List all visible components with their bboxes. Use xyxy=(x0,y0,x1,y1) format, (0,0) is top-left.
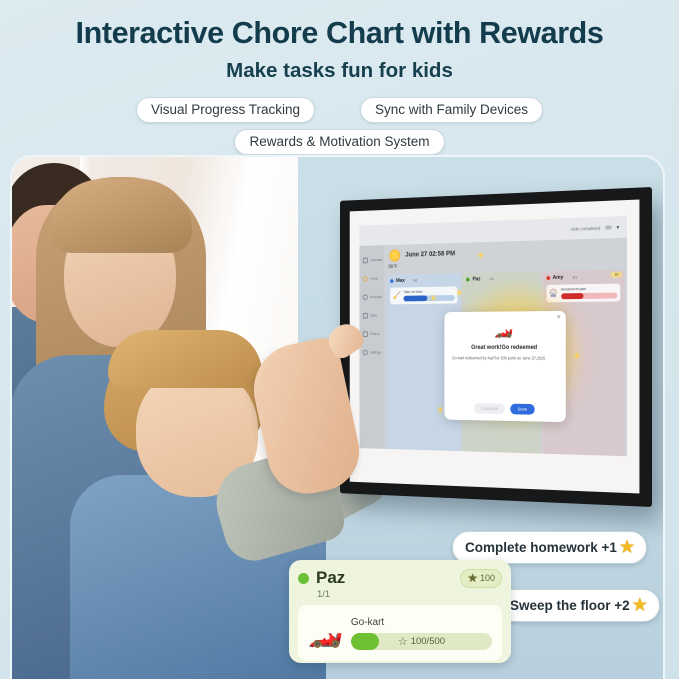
column-name-max: Max xyxy=(396,278,405,284)
feature-pill-sync-devices[interactable]: Sync with Family Devices xyxy=(360,97,543,123)
feature-pill-row-top: Visual Progress Tracking Sync with Famil… xyxy=(0,97,679,123)
feature-pill-visual-progress[interactable]: Visual Progress Tracking xyxy=(136,97,315,123)
star-outline-icon: ☆ xyxy=(398,635,408,648)
header: Interactive Chore Chart with Rewards Mak… xyxy=(0,0,679,172)
star-icon: ★ xyxy=(467,571,478,585)
column-header-max: Max 0/2 xyxy=(390,277,458,284)
sidebar-item-goals[interactable]: Goals xyxy=(360,269,385,288)
gokart-emoji: 🏎️ xyxy=(308,619,343,647)
tablet-screen-body: Calendar Goals Rewards Stats xyxy=(360,238,627,456)
sidebar-label-goals: Goals xyxy=(370,277,378,281)
callout-label-sweep: Sweep the floor +2 xyxy=(510,598,630,613)
task-emoji-trash: 🧹 xyxy=(393,292,401,300)
tablet-temperature: 86°F xyxy=(388,264,397,270)
sparkle-icon: ✦ xyxy=(477,251,484,262)
trophy-icon xyxy=(363,294,368,300)
boy-fringe xyxy=(108,330,262,388)
sidebar-label-calendar: Calendar xyxy=(370,258,382,262)
close-icon[interactable]: ✕ xyxy=(556,313,561,320)
paz-points-badge: ★ 100 xyxy=(460,569,502,588)
done-button[interactable]: Done xyxy=(511,404,535,415)
feature-pill-row-bottom: Rewards & Motivation System xyxy=(0,129,679,155)
paz-status-dot xyxy=(298,573,309,584)
task-card-max[interactable]: 🧹 Take out trash xyxy=(390,286,458,304)
sidebar-label-stats: Stats xyxy=(370,314,377,318)
sidebar-item-calendar[interactable]: Calendar xyxy=(360,251,385,270)
sidebar-label-photos: Photos xyxy=(370,332,379,336)
paz-task-body: Go-kart ☆ 100/500 xyxy=(351,617,492,650)
status-dot-max xyxy=(390,279,393,283)
people-icon xyxy=(363,331,368,337)
modal-title: Great work!Go redeemed xyxy=(452,344,557,351)
paz-task-fraction: 1/1 xyxy=(317,589,502,600)
sidebar-label-settings: Settings xyxy=(370,351,381,355)
gokart-progress-text: 100/500 xyxy=(411,636,445,647)
tablet-main-area: June 27 02:58 PM 86°F Max 0/2 xyxy=(384,238,627,456)
star-icon: ★ xyxy=(633,595,647,615)
paz-reward-card[interactable]: Paz ★ 100 1/1 🏎️ Go-kart ☆ 100/500 xyxy=(289,560,511,663)
gokart-progress-bar: ☆ 100/500 xyxy=(351,633,492,650)
paz-points-value: 100 xyxy=(480,573,495,583)
calendar-icon xyxy=(363,258,368,264)
gokart-progress-text-wrap: ☆ 100/500 xyxy=(398,635,445,648)
reward-redeemed-modal[interactable]: ✕ 🏎️ Great work!Go redeemed Go-kart rede… xyxy=(444,310,565,422)
modal-description: Go-kart redeemed by Karl for 500 point o… xyxy=(452,355,557,361)
sidebar-item-rewards[interactable]: Rewards xyxy=(360,288,385,307)
gokart-progress-fill xyxy=(351,633,379,650)
paz-card-header: Paz ★ 100 xyxy=(298,568,502,588)
sparkle-icon: ✦ xyxy=(456,289,463,300)
hide-completed-toggle[interactable]: Hide completed xyxy=(570,225,600,231)
chart-icon xyxy=(363,313,368,319)
callout-sweep-floor[interactable]: Sweep the floor +2 ★ xyxy=(497,589,660,622)
mother-hair-front xyxy=(50,179,192,253)
cancel-button[interactable]: Cancelled xyxy=(474,403,505,414)
gokart-label: Go-kart xyxy=(351,617,492,628)
gear-icon xyxy=(363,350,368,356)
sidebar-item-settings[interactable]: Settings xyxy=(360,343,385,362)
toggle-switch-icon[interactable] xyxy=(605,225,612,229)
modal-reward-emoji: 🏎️ xyxy=(452,320,557,337)
page-subtitle: Make tasks fun for kids xyxy=(0,59,679,83)
tablet-datetime: June 27 02:58 PM xyxy=(405,250,455,258)
column-fraction-max: 0/2 xyxy=(413,279,417,283)
sun-icon xyxy=(389,249,400,261)
paz-name: Paz xyxy=(316,568,345,588)
sparkle-icon: ✦ xyxy=(573,351,580,362)
modal-button-row: Cancelled Done xyxy=(444,403,565,416)
sidebar-label-rewards: Rewards xyxy=(370,295,382,299)
points-pill-amy: 80 xyxy=(611,272,622,278)
feature-pill-rewards-motivation[interactable]: Rewards & Motivation System xyxy=(234,129,444,155)
callout-label-homework: Complete homework +1 xyxy=(465,540,617,555)
wall-mounted-tablet: Hide completed ▾ Calendar Goals xyxy=(340,187,652,507)
star-icon xyxy=(363,276,368,282)
sparkle-icon: ✦ xyxy=(430,293,436,303)
star-icon: ★ xyxy=(620,537,634,557)
page-title: Interactive Chore Chart with Rewards xyxy=(0,16,679,51)
tablet-screen[interactable]: Hide completed ▾ Calendar Goals xyxy=(360,216,627,456)
tablet-sidebar: Calendar Goals Rewards Stats xyxy=(360,245,385,449)
sparkle-icon: ✦ xyxy=(437,405,443,415)
wifi-icon: ▾ xyxy=(616,224,619,231)
paz-task-row[interactable]: 🏎️ Go-kart ☆ 100/500 xyxy=(298,605,502,661)
sidebar-item-stats[interactable]: Stats xyxy=(360,306,385,325)
